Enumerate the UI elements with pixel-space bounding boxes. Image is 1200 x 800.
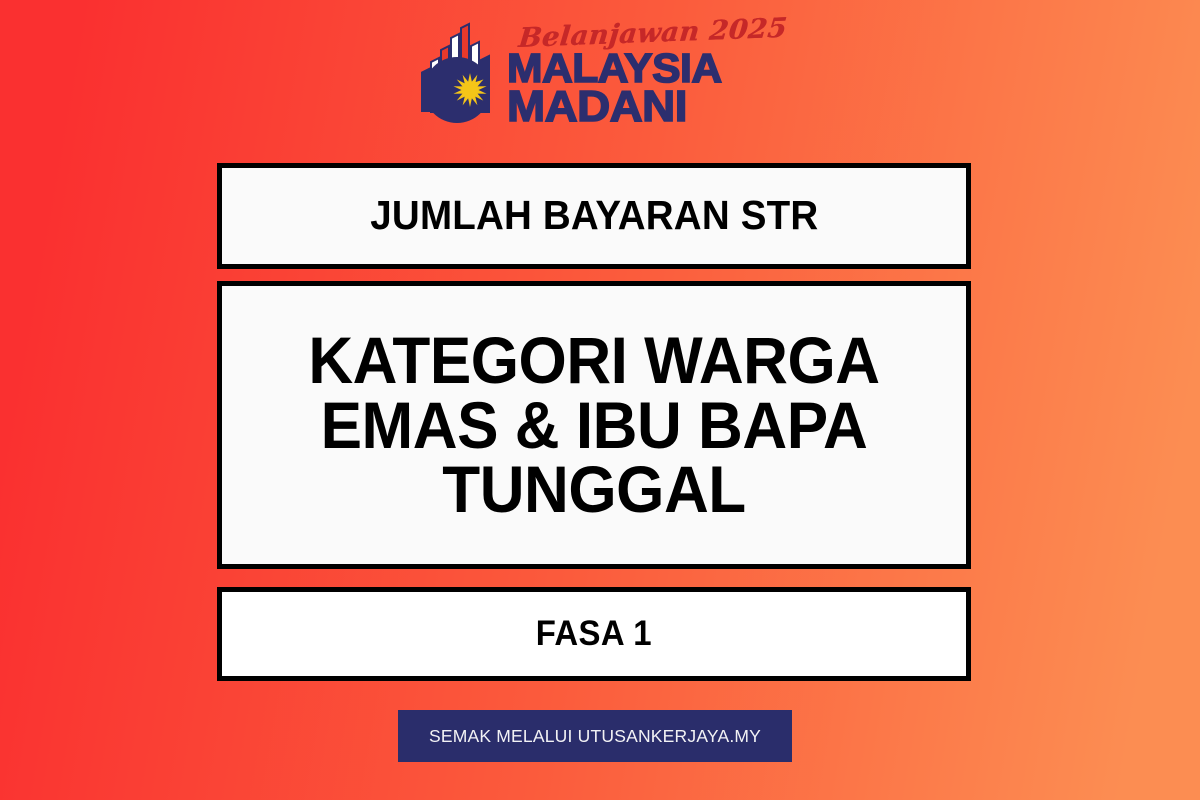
category-heading-text: KATEGORI WARGA EMAS & IBU BAPA TUNGGAL: [244, 328, 943, 522]
check-website-banner[interactable]: SEMAK MELALUI UTUSANKERJAYA.MY: [398, 710, 792, 762]
phase-panel: FASA 1: [217, 587, 971, 681]
payment-title-text: JUMLAH BAYARAN STR: [370, 194, 818, 237]
category-panel: KATEGORI WARGA EMAS & IBU BAPA TUNGGAL: [217, 281, 971, 569]
logo-wordmark: Belanjawan 2025 MALAYSIA MADANI: [507, 19, 784, 128]
logo-inner: Belanjawan 2025 MALAYSIA MADANI: [415, 16, 784, 128]
payment-title-panel: JUMLAH BAYARAN STR: [217, 163, 971, 269]
phase-text: FASA 1: [536, 614, 652, 654]
malaysia-madani-logo: Belanjawan 2025 MALAYSIA MADANI: [0, 16, 1200, 142]
logo-word-madani: MADANI: [507, 87, 795, 128]
check-website-label: SEMAK MELALUI UTUSANKERJAYA.MY: [429, 726, 761, 747]
malaysia-madani-emblem-icon: [415, 16, 499, 128]
